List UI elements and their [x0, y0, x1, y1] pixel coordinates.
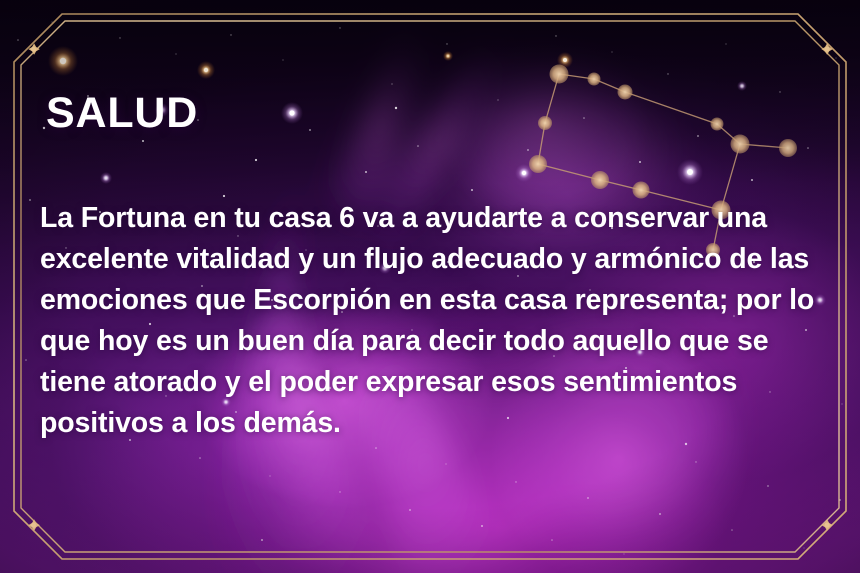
page-title: SALUD [46, 92, 198, 135]
card-content: SALUD La Fortuna en tu casa 6 va a ayuda… [0, 0, 860, 573]
horoscope-card: SALUD La Fortuna en tu casa 6 va a ayuda… [0, 0, 860, 573]
horoscope-body-text: La Fortuna en tu casa 6 va a ayudarte a … [40, 198, 830, 444]
